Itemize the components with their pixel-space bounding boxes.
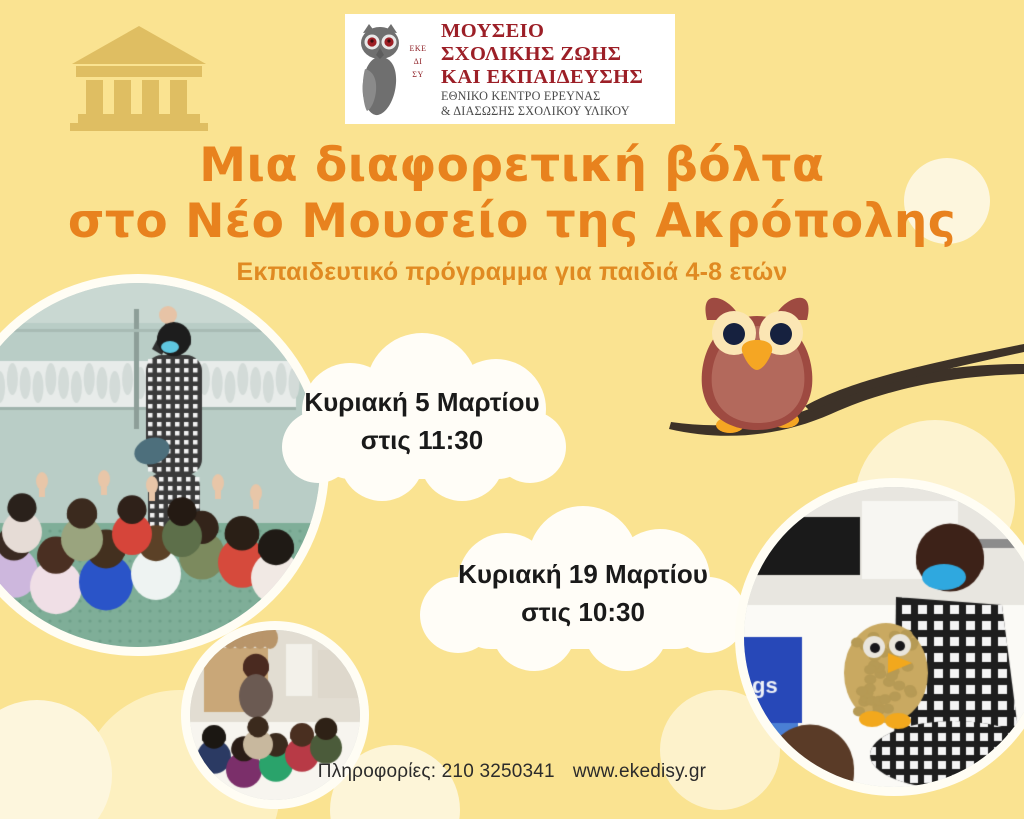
footer-phone: Πληροφορίες: 210 3250341 — [318, 761, 555, 782]
logo-title-line-3: ΚΑΙ ΕΚΠΑΙΔΕΥΣΗΣ — [441, 66, 643, 89]
logo-monogram-line: ΕΚΕ — [403, 42, 433, 55]
logo-title-line-1: ΜΟΥΣΕΙΟ — [441, 20, 643, 43]
session-1-date: Κυριακή 5 Μαρτίου — [304, 383, 539, 421]
photo-educator-owl-puppet — [744, 487, 1024, 787]
session-cloud-1-text: Κυριακή 5 Μαρτίου στις 11:30 — [272, 331, 572, 507]
logo-monogram-line: ΣΥ — [403, 68, 433, 81]
session-2-date: Κυριακή 19 Μαρτίου — [458, 555, 708, 593]
session-cloud-2: Κυριακή 19 Μαρτίου στις 10:30 — [408, 505, 758, 677]
headline-line-2: στο Νέο Μουσείο της Ακρόπολης — [0, 194, 1024, 250]
owl-on-branch-icon — [655, 290, 1024, 455]
logo-text-block: ΜΟΥΣΕΙΟ ΣΧΟΛΙΚΗΣ ΖΩΗΣ ΚΑΙ ΕΚΠΑΙΔΕΥΣΗΣ ΕΘ… — [441, 20, 643, 119]
logo-title-line-2: ΣΧΟΛΙΚΗΣ ΖΩΗΣ — [441, 43, 643, 66]
logo-subtitle-line-1: ΕΘΝΙΚΟ ΚΕΝΤΡΟ ΕΡΕΥΝΑΣ — [441, 89, 643, 104]
greek-temple-icon — [64, 22, 214, 136]
footer-website[interactable]: www.ekedisy.gr — [573, 761, 706, 782]
logo-subtitle-line-2: & ΔΙΑΣΩΣΗΣ ΣΧΟΛΙΚΟΥ ΥΛΙΚΟΥ — [441, 104, 643, 119]
owl-engraving-icon — [351, 21, 409, 117]
session-cloud-2-text: Κυριακή 19 Μαρτίου στις 10:30 — [408, 505, 758, 677]
logo-monogram: ΕΚΕ ΔΙ ΣΥ — [403, 42, 433, 81]
logo-monogram-line: ΔΙ — [403, 55, 433, 68]
decorative-circle — [0, 700, 112, 819]
footer-contact: Πληροφορίες: 210 3250341www.ekedisy.gr — [0, 761, 1024, 783]
museum-logo: ΕΚΕ ΔΙ ΣΥ ΜΟΥΣΕΙΟ ΣΧΟΛΙΚΗΣ ΖΩΗΣ ΚΑΙ ΕΚΠΑ… — [345, 14, 675, 124]
session-2-time: στις 10:30 — [521, 593, 645, 631]
poster-subtitle: Εκπαιδευτικό πρόγραμμα για παιδιά 4-8 ετ… — [0, 258, 1024, 287]
session-cloud-1: Κυριακή 5 Μαρτίου στις 11:30 — [272, 331, 572, 507]
session-1-time: στις 11:30 — [361, 421, 483, 459]
poster-headline: Μια διαφορετική βόλτα στο Νέο Μουσείο τη… — [0, 138, 1024, 250]
headline-line-1: Μια διαφορετική βόλτα — [199, 138, 824, 193]
poster-canvas: ΕΚΕ ΔΙ ΣΥ ΜΟΥΣΕΙΟ ΣΧΟΛΙΚΗΣ ΖΩΗΣ ΚΑΙ ΕΚΠΑ… — [0, 0, 1024, 819]
